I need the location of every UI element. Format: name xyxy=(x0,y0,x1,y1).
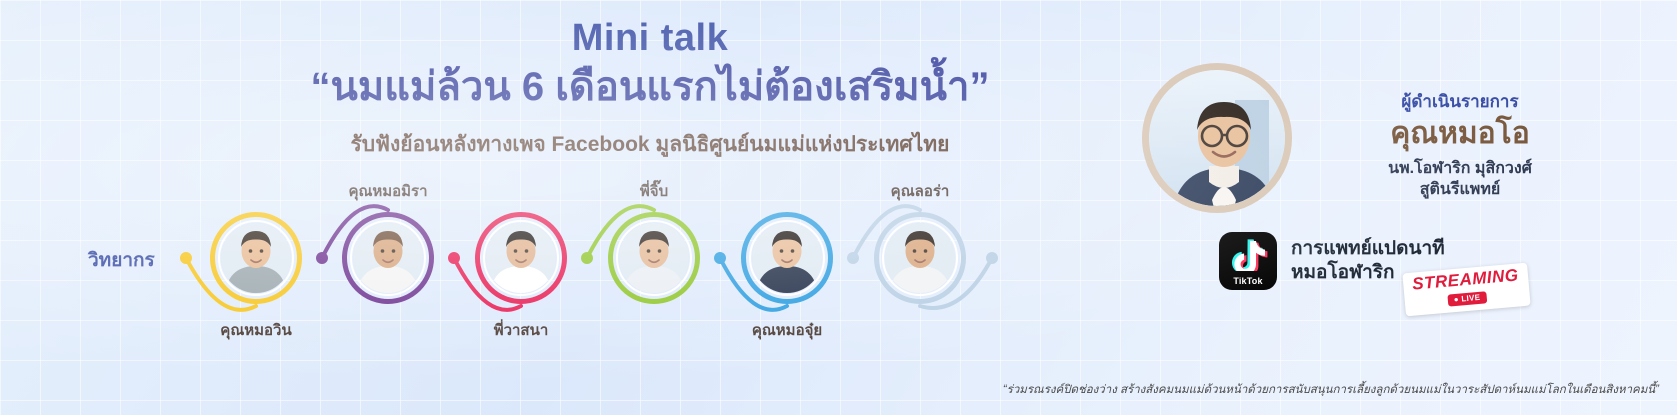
speaker-avatar-1[interactable] xyxy=(210,212,302,304)
tiktok-logo-label: TikTok xyxy=(1219,276,1277,286)
tiktok-channel-line1: การแพทย์แปดนาที xyxy=(1291,237,1445,261)
speaker-avatar-4[interactable] xyxy=(608,212,700,304)
footer-caption: “ร่วมรณรงค์ปิดช่องว่าง สร้างสังคมนมแม่ด้… xyxy=(0,381,1659,399)
speaker-avatar-2[interactable] xyxy=(342,212,434,304)
speaker-name-5: คุณหมอจุ๋ย xyxy=(702,318,872,342)
tiktok-note-glyph xyxy=(1219,237,1277,271)
speaker-photo xyxy=(752,223,822,293)
speaker-avatar-3[interactable] xyxy=(475,212,567,304)
host-avatar-image xyxy=(1149,70,1285,206)
speaker-name-3: พี่วาสนา xyxy=(436,318,606,342)
speaker-portrait-icon xyxy=(619,223,689,293)
speaker-avatar-5[interactable] xyxy=(741,212,833,304)
speaker-name-1: คุณหมอวิน xyxy=(171,318,341,342)
speaker-name-2: คุณหมอมิรา xyxy=(303,179,473,203)
promo-banner: Mini talk “นมแม่ล้วน 6 เดือนแรกไม่ต้องเส… xyxy=(0,0,1677,415)
speaker-photo xyxy=(885,223,955,293)
host-specialty: สูตินรีแพทย์ xyxy=(1300,179,1620,201)
speaker-face xyxy=(486,223,556,293)
host-avatar xyxy=(1142,63,1292,213)
host-role: ผู้ดำเนินรายการ xyxy=(1300,88,1620,115)
speaker-portrait-icon xyxy=(885,223,955,293)
speaker-name-6: คุณลอร่า xyxy=(835,179,1005,203)
speaker-portrait-icon xyxy=(752,223,822,293)
speaker-photo xyxy=(486,223,556,293)
speaker-face xyxy=(885,223,955,293)
speaker-portrait-icon xyxy=(486,223,556,293)
tiktok-icon[interactable]: TikTok xyxy=(1219,232,1277,290)
speaker-face xyxy=(353,223,423,293)
speaker-face xyxy=(752,223,822,293)
host-full-name: นพ.โอฬาริก มุสิกวงศ์ xyxy=(1300,158,1620,180)
speaker-face xyxy=(221,223,291,293)
speaker-photo xyxy=(619,223,689,293)
speaker-face xyxy=(619,223,689,293)
speaker-portrait-icon xyxy=(353,223,423,293)
streaming-label: STREAMING xyxy=(1412,266,1520,292)
host-nickname: คุณหมอโอ xyxy=(1300,117,1620,152)
live-badge: ● LIVE xyxy=(1447,291,1487,306)
speaker-portrait-icon xyxy=(221,223,291,293)
speakers-list: คุณหมอวิน คุณหมอมิรา พี่วาสนา พี่จิ๊บ คุ xyxy=(0,0,1677,415)
speaker-name-4: พี่จิ๊บ xyxy=(569,179,739,203)
host-info: ผู้ดำเนินรายการ คุณหมอโอ นพ.โอฬาริก มุสิ… xyxy=(1300,88,1620,201)
speaker-avatar-6[interactable] xyxy=(874,212,966,304)
speaker-photo xyxy=(353,223,423,293)
speaker-photo xyxy=(221,223,291,293)
host-portrait-icon xyxy=(1149,70,1285,206)
